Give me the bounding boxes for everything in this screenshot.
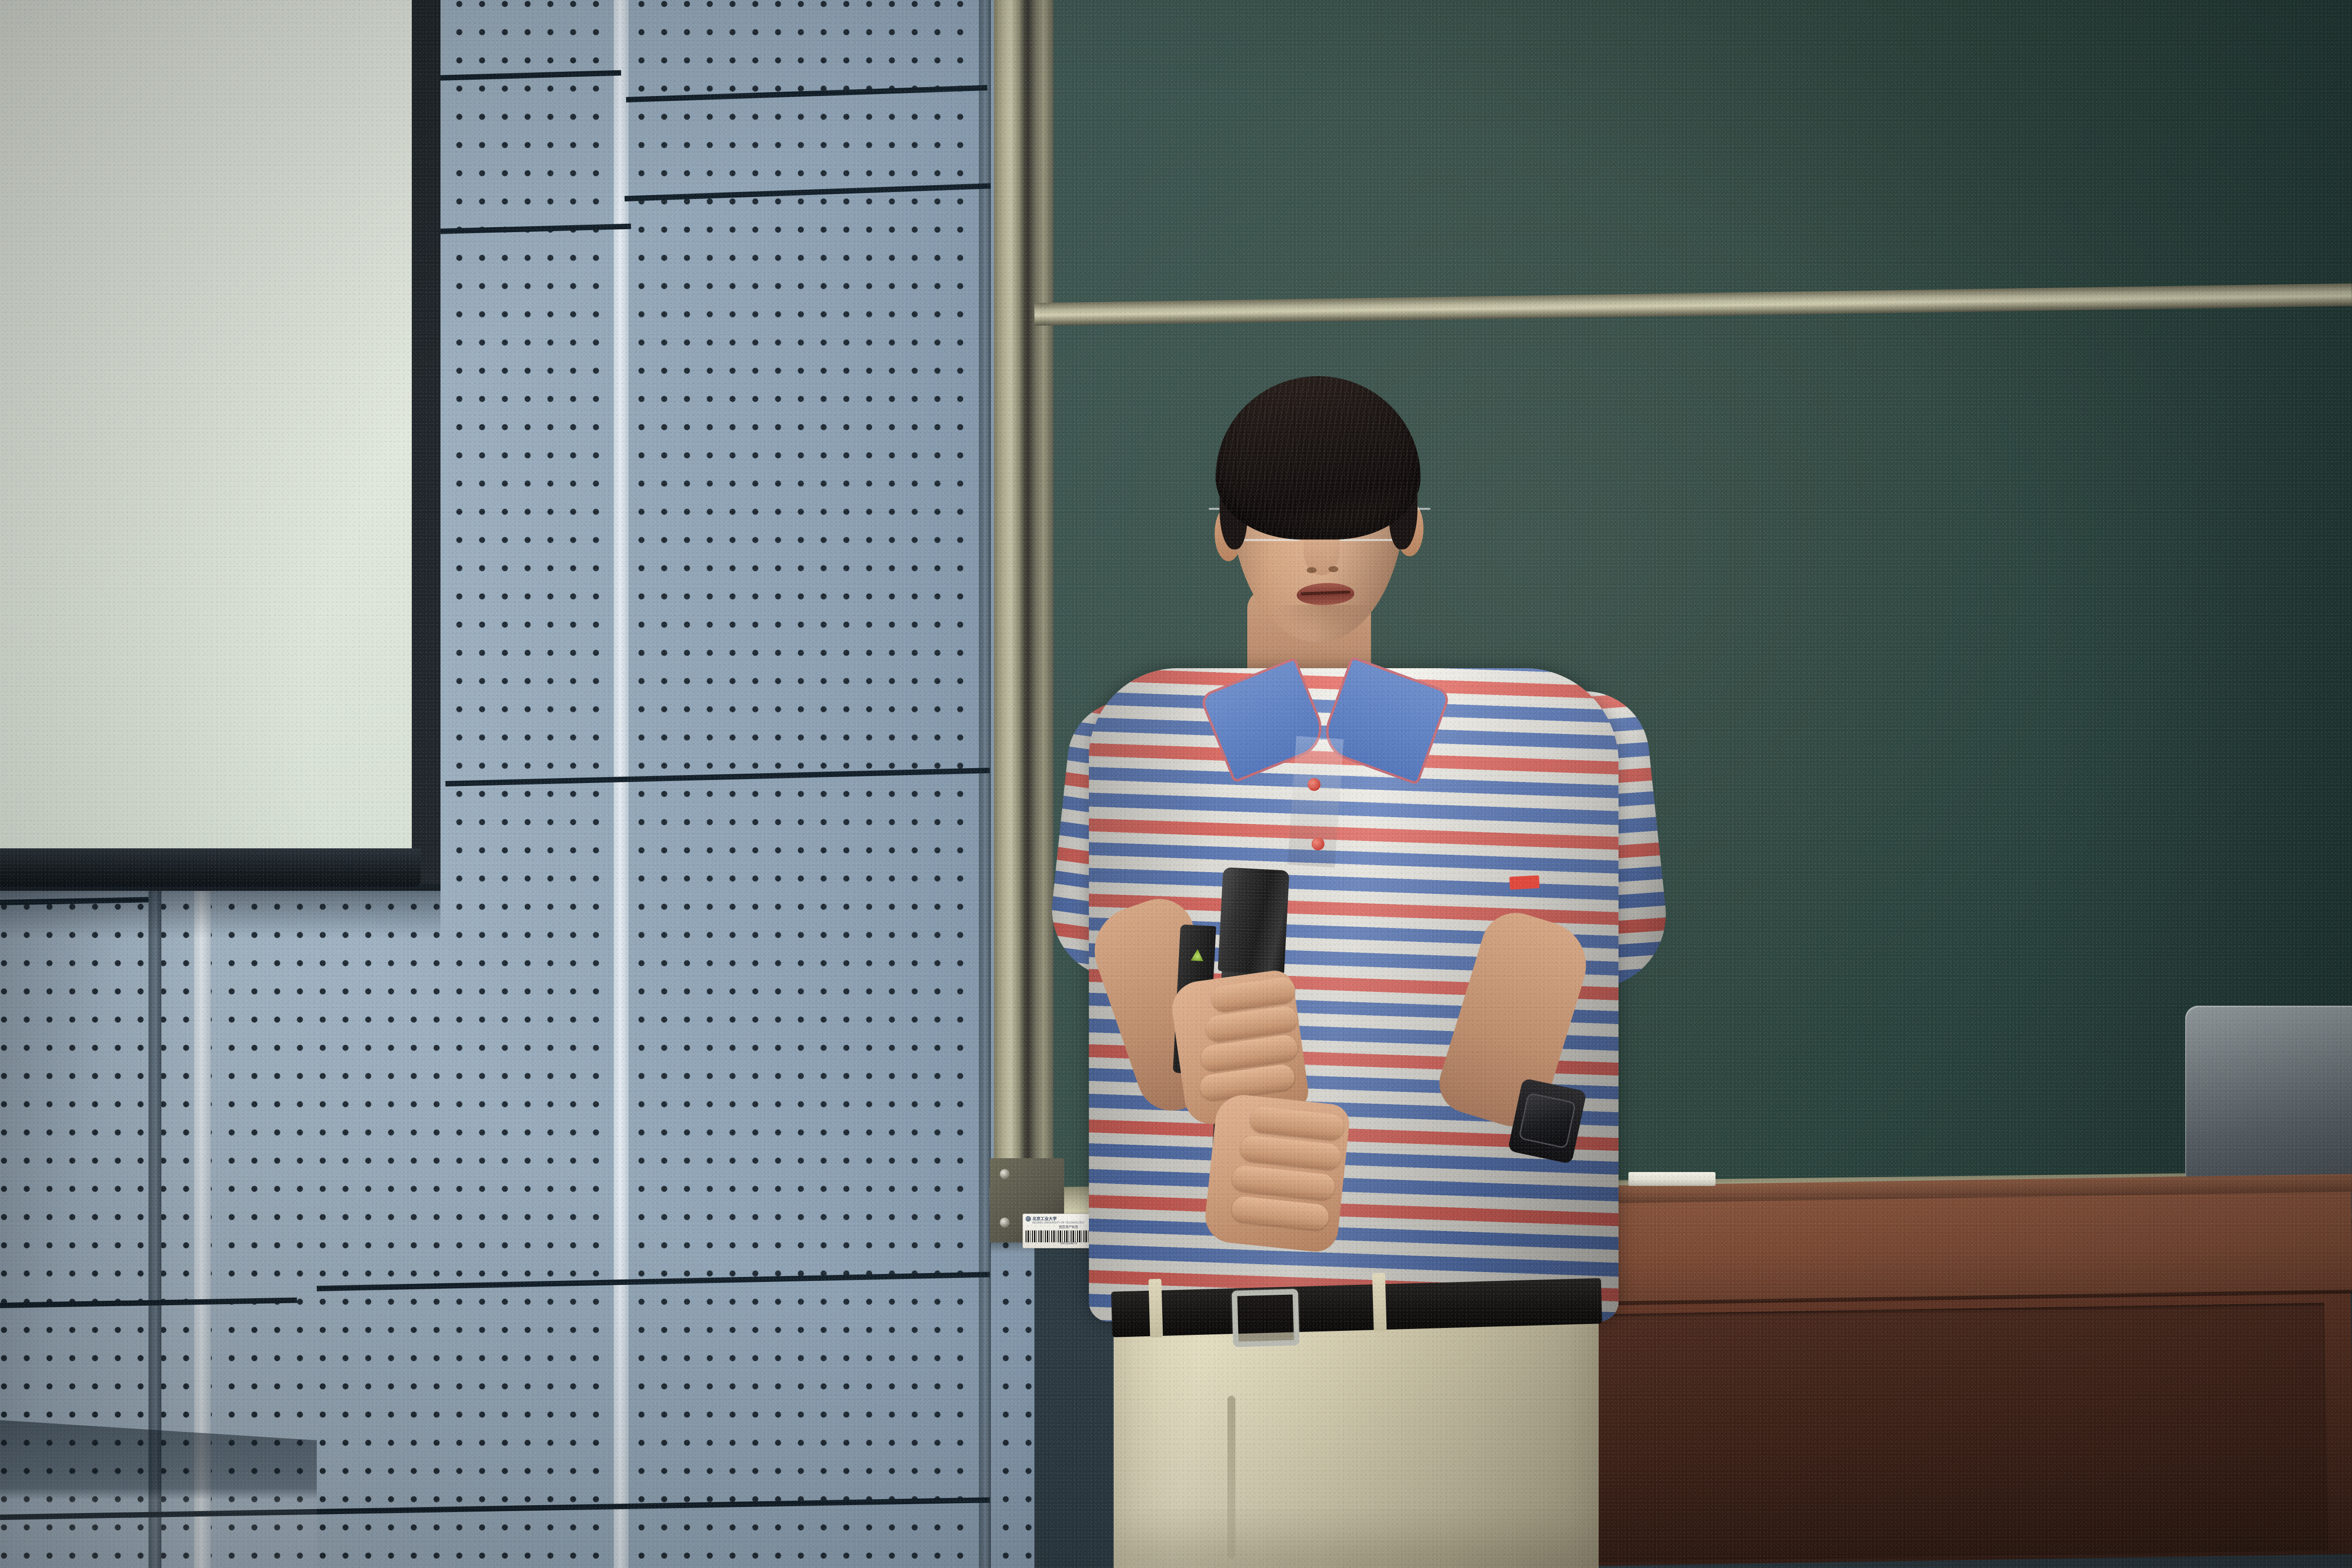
watch-face	[1518, 1092, 1576, 1149]
presenter	[1015, 376, 1708, 1568]
mouth-line	[1301, 590, 1350, 595]
trouser-fly-seam	[1227, 1396, 1235, 1559]
hand-lower	[1203, 1092, 1351, 1254]
hair	[1216, 376, 1421, 539]
polo-button[interactable]	[1312, 837, 1324, 850]
belt-loop	[1372, 1273, 1386, 1332]
polo-button[interactable]	[1308, 778, 1321, 791]
wall-recessed-niche	[0, 1420, 317, 1568]
nostril-left	[1307, 567, 1317, 573]
photo-scene: 北京工业大学 BEIJING UNIVERSITY OF TECHNOLOGY …	[0, 0, 2352, 1568]
belt-loop	[1148, 1279, 1163, 1338]
projection-screen-weight-bar	[0, 848, 421, 887]
chin-shading	[1276, 605, 1375, 635]
trousers	[1114, 1302, 1599, 1568]
finger	[1249, 1106, 1345, 1141]
finger	[1239, 1134, 1342, 1171]
belt-buckle	[1231, 1289, 1299, 1347]
finger	[1231, 1165, 1336, 1201]
frame-screw	[1000, 1218, 1010, 1227]
nostril-right	[1328, 566, 1338, 572]
projection-screen-shadow	[0, 884, 441, 938]
chest-logo-patch	[1509, 875, 1539, 889]
wall-mullion-dark-2	[979, 0, 991, 1568]
finger	[1230, 1195, 1329, 1231]
projection-screen	[0, 0, 441, 891]
head	[1212, 376, 1424, 653]
frame-screw	[1000, 1169, 1010, 1179]
projection-screen-surface	[0, 0, 412, 856]
microphone-head	[1218, 867, 1289, 975]
wall-mullion-light-2	[614, 0, 629, 1568]
